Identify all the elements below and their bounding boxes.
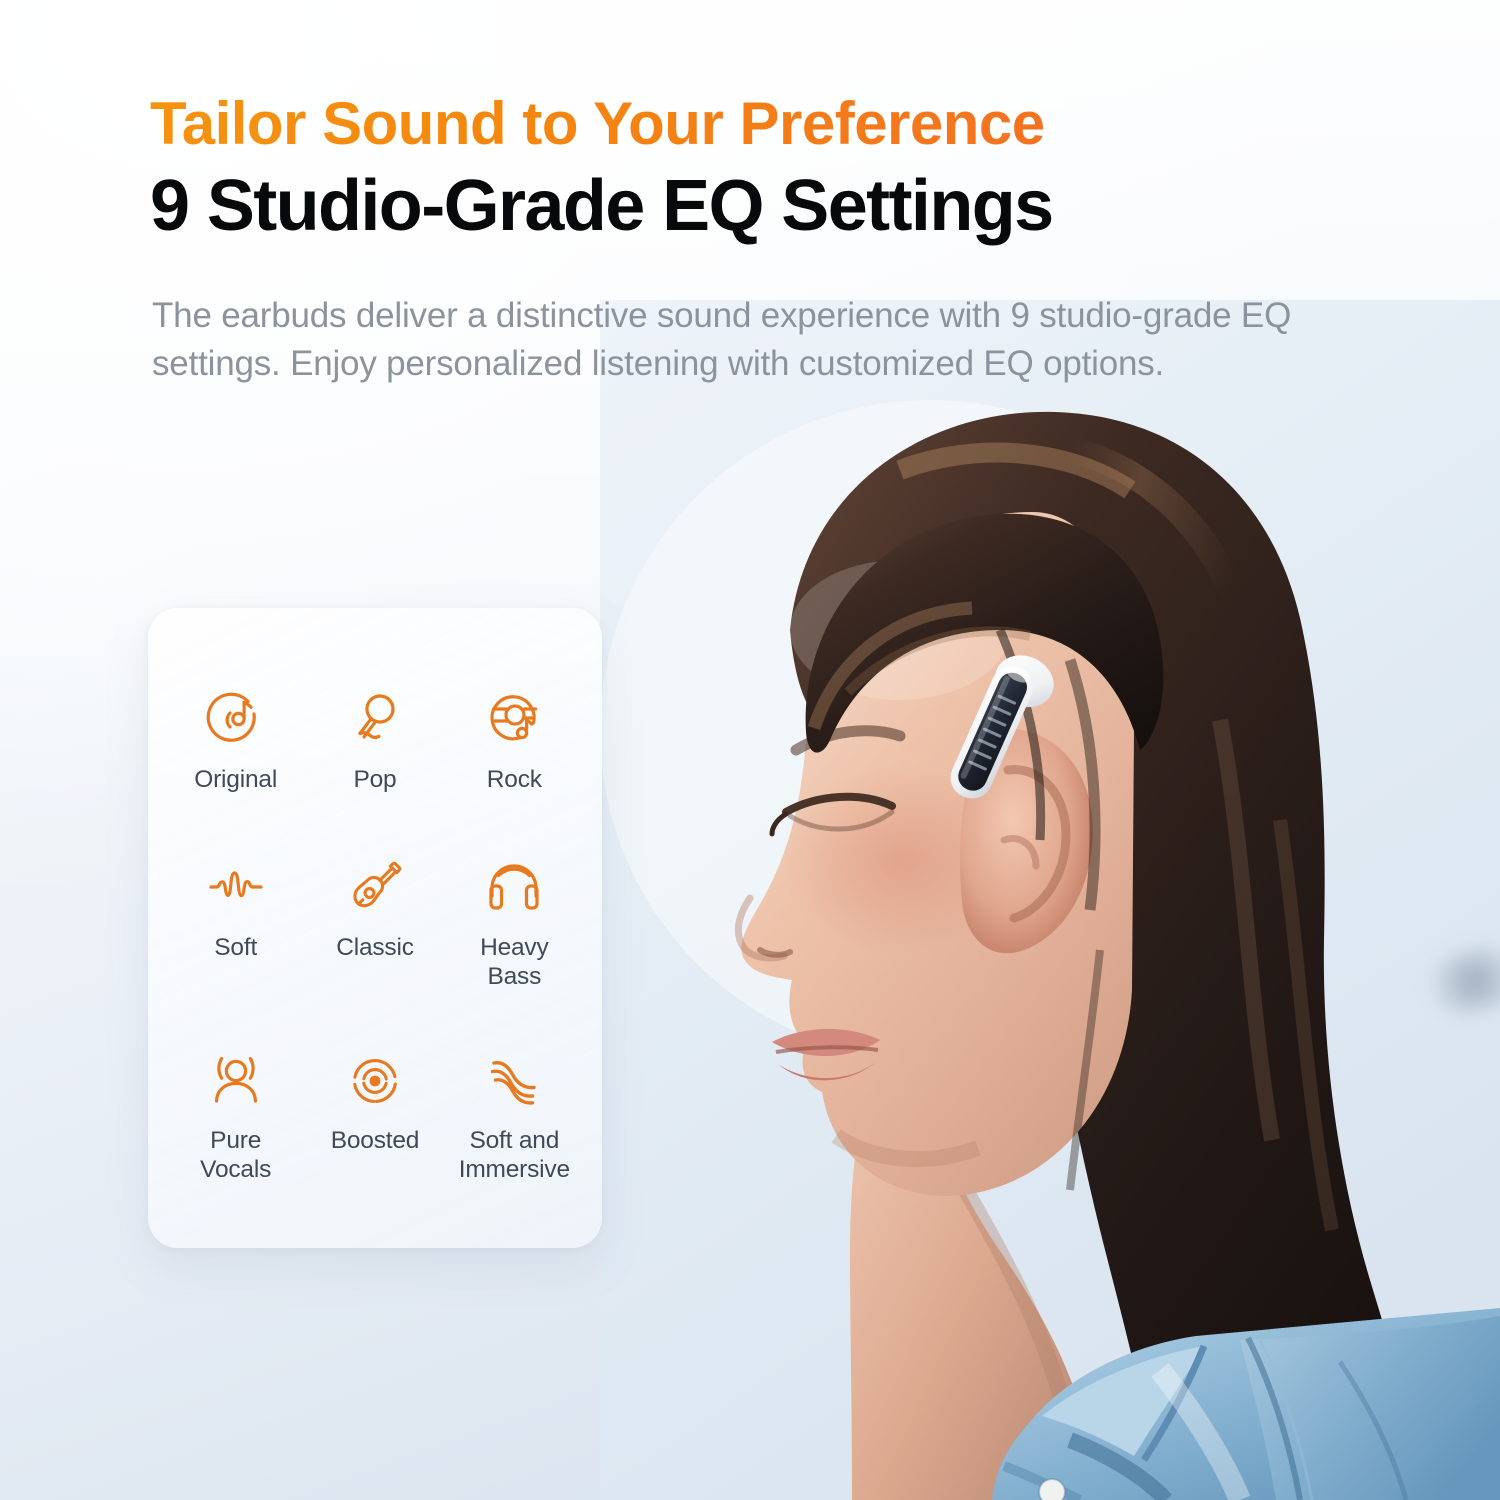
- eq-item-boosted[interactable]: Boosted: [311, 1049, 439, 1155]
- eq-label: Pop: [353, 765, 396, 794]
- eq-item-soft-and-immersive[interactable]: Soft and Immersive: [450, 1049, 578, 1184]
- waveform-icon: [202, 856, 270, 920]
- person-voice-icon: [202, 1049, 270, 1113]
- eq-row-2: Soft Classic: [148, 856, 602, 991]
- eq-item-original[interactable]: Original: [172, 688, 300, 794]
- eq-row-1: Original Pop: [148, 688, 602, 794]
- eq-item-classic[interactable]: Classic: [311, 856, 439, 962]
- eq-label: Heavy Bass: [450, 933, 578, 991]
- eq-item-soft[interactable]: Soft: [172, 856, 300, 962]
- eq-label: Classic: [336, 933, 414, 962]
- subcopy-text: The earbuds deliver a distinctive sound …: [152, 292, 1292, 388]
- eq-label: Soft: [214, 933, 257, 962]
- model-photo: [600, 300, 1500, 1500]
- eq-label: Pure Vocals: [172, 1126, 300, 1184]
- headline-block: Tailor Sound to Your Preference 9 Studio…: [150, 88, 1370, 248]
- acoustic-guitar-icon: [341, 856, 409, 920]
- concentric-rings-icon: [341, 1049, 409, 1113]
- eq-item-rock[interactable]: Rock: [450, 688, 578, 794]
- eq-item-pure-vocals[interactable]: Pure Vocals: [172, 1049, 300, 1184]
- eq-settings-card: Original Pop: [148, 608, 602, 1248]
- product-feature-banner: Tailor Sound to Your Preference 9 Studio…: [0, 0, 1500, 1500]
- eq-item-heavy-bass[interactable]: Heavy Bass: [450, 856, 578, 991]
- eq-item-pop[interactable]: Pop: [311, 688, 439, 794]
- microphone-icon: [341, 688, 409, 752]
- eq-label: Rock: [487, 765, 542, 794]
- page-title: 9 Studio-Grade EQ Settings: [150, 164, 1370, 248]
- eq-row-3: Pure Vocals Boosted: [148, 1049, 602, 1184]
- headphones-icon: [480, 856, 548, 920]
- flow-waves-icon: [480, 1049, 548, 1113]
- eq-label: Original: [194, 765, 277, 794]
- eq-label: Soft and Immersive: [459, 1126, 570, 1184]
- turntable-note-icon: [480, 688, 548, 752]
- headline-kicker: Tailor Sound to Your Preference: [150, 88, 1370, 160]
- eq-label: Boosted: [331, 1126, 420, 1155]
- vinyl-note-icon: [202, 688, 270, 752]
